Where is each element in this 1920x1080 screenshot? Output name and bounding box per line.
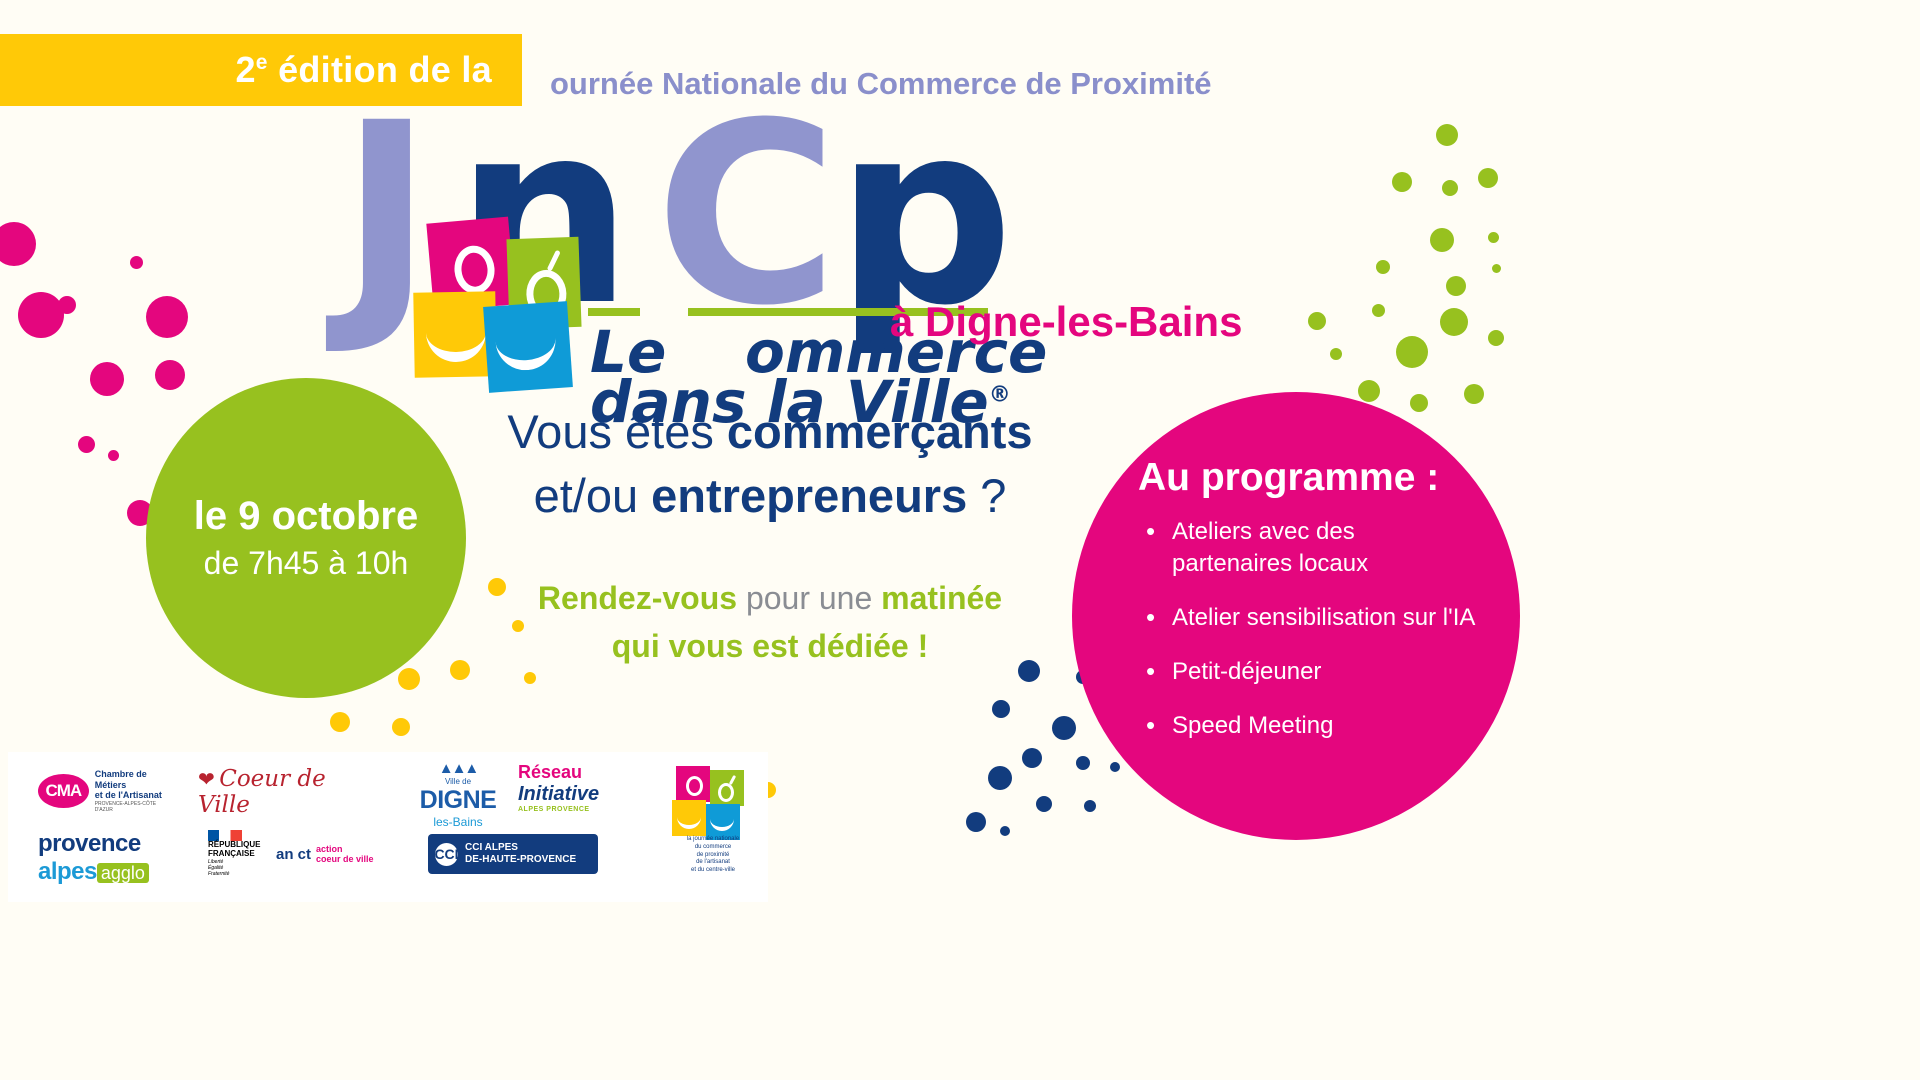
edition-number: 2 [235, 49, 255, 90]
cci-line-1: CCI ALPES [465, 842, 576, 854]
rdv-bold-1: Rendez-vous [538, 580, 737, 616]
partner-logo-cci: CCI CCI ALPES DE-HAUTE-PROVENCE [428, 834, 598, 874]
logo-rule-left [588, 308, 640, 316]
partner-logo-digne-les-bains: ▲▲▲ Ville de DIGNE les-Bains [393, 760, 523, 822]
headline-line-1: Vous êtes commerçants [470, 400, 1070, 464]
rdv-bold-2: matinée [881, 580, 1002, 616]
jncp-mini-caption-5: et du centre-ville [658, 867, 768, 875]
programme-title: Au programme : [1138, 456, 1480, 500]
programme-circle: Au programme : Ateliers avec des partena… [1072, 392, 1520, 840]
logo-eye-icon [686, 776, 703, 796]
logo-letter-c: C [655, 90, 838, 340]
mini-square-yellow [672, 800, 706, 836]
list-item: Speed Meeting [1142, 710, 1480, 742]
headline-line-2: et/ou entrepreneurs ? [470, 464, 1070, 528]
rdv-bold-3: qui vous est dédiée ! [612, 628, 929, 664]
logo-accent-icon [729, 775, 736, 785]
partner-logo-anct: an ct action coeur de ville [276, 832, 396, 876]
headline-plain-2: et/ou [534, 469, 652, 522]
coeur-de-ville-label: Coeur de Ville [198, 766, 326, 818]
jncp-mini-caption-2: du commerce [658, 844, 768, 852]
anct-line-1: action [316, 844, 374, 854]
mini-square-green [710, 770, 744, 806]
poster-canvas: 2e édition de la ournée Nationale du Com… [0, 0, 1920, 1080]
logo-eye-icon [452, 244, 496, 295]
programme-list: Ateliers avec des partenaires locaux Ate… [1138, 516, 1480, 742]
cma-region: PROVENCE-ALPES-CÔTE D'AZUR [95, 801, 168, 813]
cma-line-3: et de l'Artisanat [95, 790, 168, 800]
anct-line-2: coeur de ville [316, 854, 374, 864]
jncp-mini-caption-4: de l'artisanat [658, 859, 768, 867]
partner-logo-provence-alpes-agglo: provence alpesagglo [38, 830, 168, 880]
mini-square-blue [706, 804, 740, 840]
logo-smile-icon [710, 814, 734, 831]
list-item: Petit-déjeuner [1142, 656, 1480, 688]
center-message: Vous êtes commerçants et/ou entrepreneur… [470, 400, 1070, 670]
rdv-message: Rendez-vous pour une matinée qui vous es… [470, 574, 1070, 670]
rdv-line-1: Rendez-vous pour une matinée [470, 574, 1070, 622]
reseau-line-3: ALPES PROVENCE [518, 806, 648, 813]
cma-line-2: Métiers [95, 780, 168, 790]
jncp-mini-caption: la journée nationale du commerce de prox… [658, 836, 768, 875]
event-location: à Digne-les-Bains [890, 298, 1242, 346]
cma-line-1: Chambre de [95, 769, 168, 779]
event-time: de 7h45 à 10h [204, 545, 409, 582]
digne-prefix: Ville de [393, 777, 523, 786]
cci-line-2: DE-HAUTE-PROVENCE [465, 854, 576, 866]
cma-mark: CMA [38, 774, 89, 808]
heart-icon: ❤ [198, 769, 215, 791]
jncp-mini-caption-1: la journée nationale [658, 836, 768, 844]
logo-smile-icon [495, 326, 558, 372]
partner-logo-republique-francaise: RÉPUBLIQUE FRANÇAISE Liberté Égalité Fra… [208, 830, 278, 876]
cci-badge: CCI [435, 843, 458, 866]
partner-logo-reseau-initiative: Réseau Initiative ALPES PROVENCE [518, 762, 648, 818]
rdv-plain-1: pour une [737, 580, 881, 616]
edition-ordinal-suffix: e [256, 51, 268, 74]
rdv-line-2: qui vous est dédiée ! [470, 622, 1070, 670]
list-item: Ateliers avec des partenaires locaux [1142, 516, 1480, 580]
reseau-line-1: Réseau [518, 762, 648, 783]
republique-line-2: FRANÇAISE [208, 850, 278, 859]
partner-logo-cma: CMA Chambre de Métiers et de l'Artisanat… [38, 764, 168, 818]
mini-square-magenta [676, 766, 710, 802]
list-item: Atelier sensibilisation sur l'IA [1142, 602, 1480, 634]
logo-eye-icon [718, 783, 734, 802]
partner-logo-coeur-de-ville: ❤ Coeur de Ville [198, 766, 368, 816]
jncp-mini-caption-3: de proximité [658, 852, 768, 860]
provence-line-1: provence [38, 830, 168, 858]
partner-logo-bar: CMA Chambre de Métiers et de l'Artisanat… [8, 752, 768, 902]
partner-logo-jncp-mini: la journée nationale du commerce de prox… [658, 762, 768, 880]
logo-accent-icon [547, 250, 561, 272]
anct-mark: an ct [276, 846, 311, 863]
headline-bold-2: entrepreneurs [651, 469, 967, 522]
reseau-line-2: Initiative [518, 783, 648, 806]
digne-name: DIGNE [393, 786, 523, 815]
logo-smile-icon [677, 812, 701, 829]
headline-bold-1: commerçants [727, 405, 1033, 458]
digne-mountains-icon: ▲▲▲ [393, 760, 523, 777]
headline-tail: ? [967, 469, 1006, 522]
provence-line-2: alpes [38, 858, 97, 885]
event-date: le 9 octobre [194, 494, 419, 539]
provence-badge: agglo [97, 863, 149, 883]
date-circle: le 9 octobre de 7h45 à 10h [146, 378, 466, 698]
logo-square-blue [483, 301, 573, 393]
headline-plain-1: Vous êtes [507, 405, 727, 458]
logo-smile-icon [426, 319, 487, 362]
republique-motto-3: Fraternité [208, 871, 278, 877]
digne-suffix: les-Bains [393, 815, 523, 829]
